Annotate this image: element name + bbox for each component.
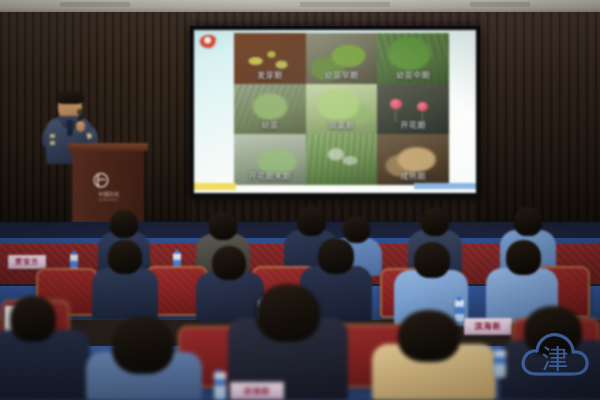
projection-screen: 发芽期 幼苗早期 幼苗中期 幼苗 现蕾期 xyxy=(190,26,480,198)
nameplate: 贾宝方 xyxy=(8,255,46,269)
audience-head xyxy=(110,210,138,238)
audience-head xyxy=(108,240,142,274)
grid-cell xyxy=(306,134,378,185)
audience-head xyxy=(506,240,541,275)
grid-cell-caption: 幼苗 xyxy=(234,120,306,131)
audience-torso xyxy=(0,330,90,400)
audience-head xyxy=(398,310,460,362)
microphone-head xyxy=(77,109,83,115)
speaker-hand xyxy=(76,121,85,132)
nameplate: 滨海新 xyxy=(464,318,512,335)
nameplate: 滨海新 xyxy=(230,382,284,400)
grid-cell-caption: 开花期末期 xyxy=(234,171,306,182)
grid-cell: 幼苗早期 xyxy=(306,33,378,84)
bottle-cap xyxy=(496,347,500,351)
slide-accent-bar-yellow xyxy=(194,183,236,190)
audience-torso xyxy=(92,268,158,320)
poppy-flower xyxy=(417,102,428,111)
audience-head xyxy=(343,216,370,243)
grid-cell: 幼苗中期 xyxy=(377,33,449,84)
water-bottle xyxy=(455,300,464,322)
podium-brand-en: SINOPEC xyxy=(78,198,140,202)
grid-cell-caption: 幼苗中期 xyxy=(377,70,449,81)
ceiling-vent xyxy=(300,2,390,7)
slide-logo-icon xyxy=(200,35,217,48)
audience-head xyxy=(414,242,450,278)
bottle-label xyxy=(70,261,78,268)
grid-cell: 开花期末期 xyxy=(234,134,306,185)
slide-accent-bar-blue xyxy=(414,183,476,189)
podium-top-surface xyxy=(68,143,148,151)
sinopec-logo-icon xyxy=(92,172,110,190)
bottle-label xyxy=(494,357,506,364)
grid-cell: 成熟期 xyxy=(377,134,449,185)
audience-head xyxy=(256,284,320,342)
grid-cell-caption: 发芽期 xyxy=(234,70,306,81)
grid-cell-caption: 成熟期 xyxy=(377,171,449,182)
bottle-label xyxy=(214,379,226,386)
audience-head xyxy=(421,208,449,236)
audience-head xyxy=(10,296,56,342)
grid-cell-caption: 幼苗早期 xyxy=(306,70,378,81)
uniform-badge xyxy=(50,141,55,145)
grid-cell-caption: 现蕾期 xyxy=(306,120,378,131)
grid-cell-caption: 开花期 xyxy=(377,120,449,131)
ceiling-vent xyxy=(60,2,130,7)
bottle-cap xyxy=(175,250,179,254)
grid-cell: 开花期 xyxy=(377,84,449,135)
audience-head xyxy=(318,238,354,274)
grid-cell: 幼苗 xyxy=(234,84,306,135)
audience-head xyxy=(212,246,246,280)
water-bottle xyxy=(494,350,506,378)
presentation-slide: 发芽期 幼苗早期 幼苗中期 幼苗 现蕾期 xyxy=(194,30,476,193)
grid-cell: 发芽期 xyxy=(234,33,306,84)
bottle-cap xyxy=(457,297,461,301)
audience-head xyxy=(524,306,582,356)
water-bottle xyxy=(214,372,226,400)
audience-head xyxy=(209,212,237,240)
ceiling-vent xyxy=(470,2,530,7)
bottle-cap xyxy=(72,251,76,255)
bottle-cap xyxy=(216,369,220,373)
screenshot-scene: 发芽期 幼苗早期 幼苗中期 幼苗 现蕾期 xyxy=(0,0,600,400)
speaker-hair xyxy=(56,90,84,104)
audience-head xyxy=(297,206,326,236)
audience-head xyxy=(112,316,174,374)
audience-head xyxy=(514,207,542,236)
uniform-badge xyxy=(50,134,55,138)
grid-cell: 现蕾期 xyxy=(306,84,378,135)
bottle-label xyxy=(455,307,464,314)
slide-image-grid: 发芽期 幼苗早期 幼苗中期 幼苗 现蕾期 xyxy=(234,33,449,185)
poppy-flower xyxy=(390,99,402,109)
podium-brand: 中国石化 SINOPEC xyxy=(78,192,140,203)
